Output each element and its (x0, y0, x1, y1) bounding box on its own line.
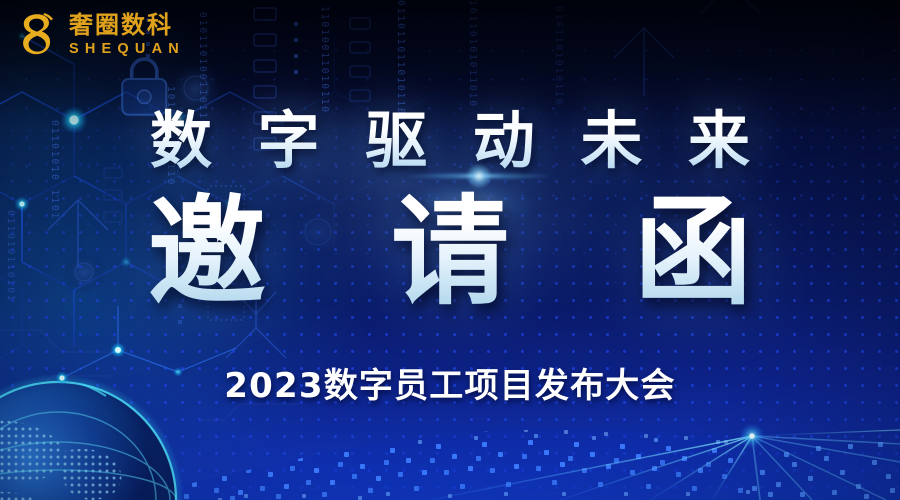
svg-text:11010011010110: 11010011010110 (319, 6, 330, 114)
svg-text:0101101010110: 0101101010110 (553, 6, 564, 106)
ray-hub-node-icon (739, 423, 765, 449)
particle-wave-right-icon (752, 442, 895, 499)
event-subtitle: 2023数字员工项目发布大会 (0, 358, 900, 407)
brand-logo-text: 奢圈数科 SHEQUAN (69, 13, 185, 57)
brand-logo[interactable]: 奢圈数科 SHEQUAN (14, 11, 185, 59)
particle-wave-icon (100, 420, 900, 500)
svg-text:10110101011010: 10110101011010 (467, 0, 478, 108)
brand-name-cn: 奢圈数科 (69, 13, 185, 37)
invitation-banner: 01101010 1101 10101101 0110 010110100110… (0, 0, 900, 500)
headline-slogan: 数 字 驱 动 未 来 (0, 108, 900, 173)
radiating-rays-icon (430, 430, 900, 500)
invitation-title: 邀 请 函 (0, 186, 900, 318)
shequan-infinity-emblem-icon (14, 11, 60, 59)
brand-name-en: SHEQUAN (69, 42, 185, 57)
